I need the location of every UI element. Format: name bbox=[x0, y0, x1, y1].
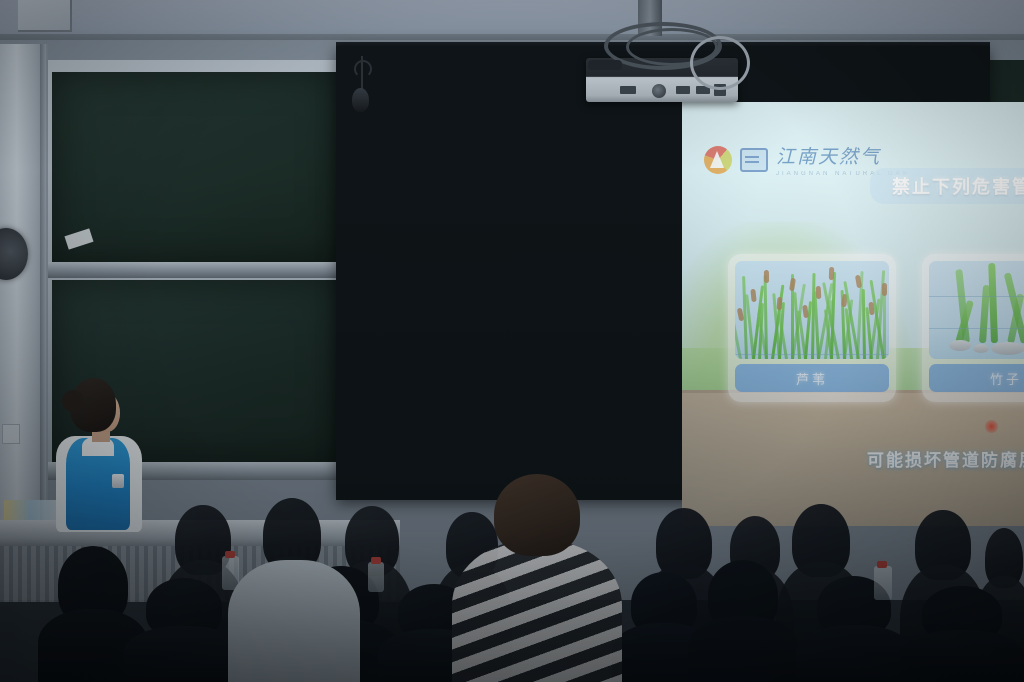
reed-stalk bbox=[883, 288, 886, 359]
projector-port-2 bbox=[676, 86, 690, 94]
presenter-badge bbox=[112, 474, 124, 488]
tri-color-circle-logo-icon bbox=[704, 146, 732, 174]
slide-caption: 可能损坏管道防腐层的深根植物 bbox=[867, 446, 1024, 471]
reed-plants-photo bbox=[735, 261, 889, 359]
reed-seed-head bbox=[789, 278, 796, 292]
slide-card-bamboo: 竹子 bbox=[922, 254, 1024, 402]
ceiling-vent bbox=[18, 0, 72, 32]
white-shirt-attendee bbox=[228, 560, 360, 682]
slide-content: 江南天然气 JIANGNAN NATURAL GAS 禁止下列危害管道安全的行为… bbox=[682, 102, 1024, 526]
reed-stalk bbox=[764, 275, 768, 359]
bottle-cap bbox=[225, 551, 235, 558]
slide-title: 禁止下列危害管道安全的行为 bbox=[870, 168, 1024, 204]
projector-cable-loop-3 bbox=[690, 36, 750, 90]
audience-shoulders bbox=[688, 616, 798, 682]
left-wall-edge bbox=[40, 44, 46, 544]
bamboo-guide-line bbox=[929, 296, 1024, 297]
laser-pointer-dot bbox=[985, 420, 998, 433]
reed-seed-head bbox=[816, 286, 822, 299]
bamboo-base-rock bbox=[973, 344, 989, 353]
striped-sweater-attendee bbox=[452, 540, 622, 682]
reed-ground-line bbox=[735, 354, 889, 355]
logo-text: 江南天然气 bbox=[776, 142, 910, 169]
card-caption-bamboo: 竹子 bbox=[929, 364, 1024, 392]
bottle-cap bbox=[877, 561, 887, 568]
reed-stalk bbox=[814, 291, 821, 359]
bamboo-plants-photo bbox=[929, 261, 1024, 359]
audience-shoulders bbox=[900, 630, 1024, 682]
reed-seed-head bbox=[750, 289, 756, 302]
audience-shoulders bbox=[124, 626, 244, 682]
card-caption-reed: 芦苇 bbox=[735, 364, 889, 392]
striped-sweater-attendee-head bbox=[494, 474, 580, 556]
presenter-hair-bun bbox=[62, 390, 84, 412]
bamboo-base-rock bbox=[991, 342, 1024, 355]
bamboo-base-rock bbox=[949, 340, 971, 351]
microphone-clip bbox=[354, 60, 372, 78]
light-switch-icon[interactable] bbox=[2, 424, 20, 444]
projector-lens-icon bbox=[652, 84, 666, 98]
water-bottle bbox=[874, 566, 892, 600]
classroom-scene: 江南天然气 JIANGNAN NATURAL GAS 禁止下列危害管道安全的行为… bbox=[0, 0, 1024, 682]
bamboo-stalk bbox=[988, 263, 998, 343]
blackboard-upper bbox=[52, 72, 338, 262]
reed-seed-head bbox=[882, 283, 887, 296]
projector-vent bbox=[588, 60, 622, 70]
gas-meter-icon bbox=[740, 148, 768, 172]
blackboard-rail-upper bbox=[46, 262, 342, 278]
projector-port-1 bbox=[620, 86, 636, 94]
water-bottle bbox=[368, 562, 384, 592]
microphone-icon bbox=[352, 88, 369, 112]
bottle-cap bbox=[371, 557, 381, 564]
projection-screen: 江南天然气 JIANGNAN NATURAL GAS 禁止下列危害管道安全的行为… bbox=[336, 46, 990, 500]
reed-stalk bbox=[862, 289, 866, 359]
slide-card-reed: 芦苇 bbox=[728, 254, 896, 402]
bamboo-guide-line bbox=[929, 328, 1024, 329]
audience-shoulders bbox=[796, 625, 912, 682]
reed-seed-head bbox=[764, 270, 769, 283]
